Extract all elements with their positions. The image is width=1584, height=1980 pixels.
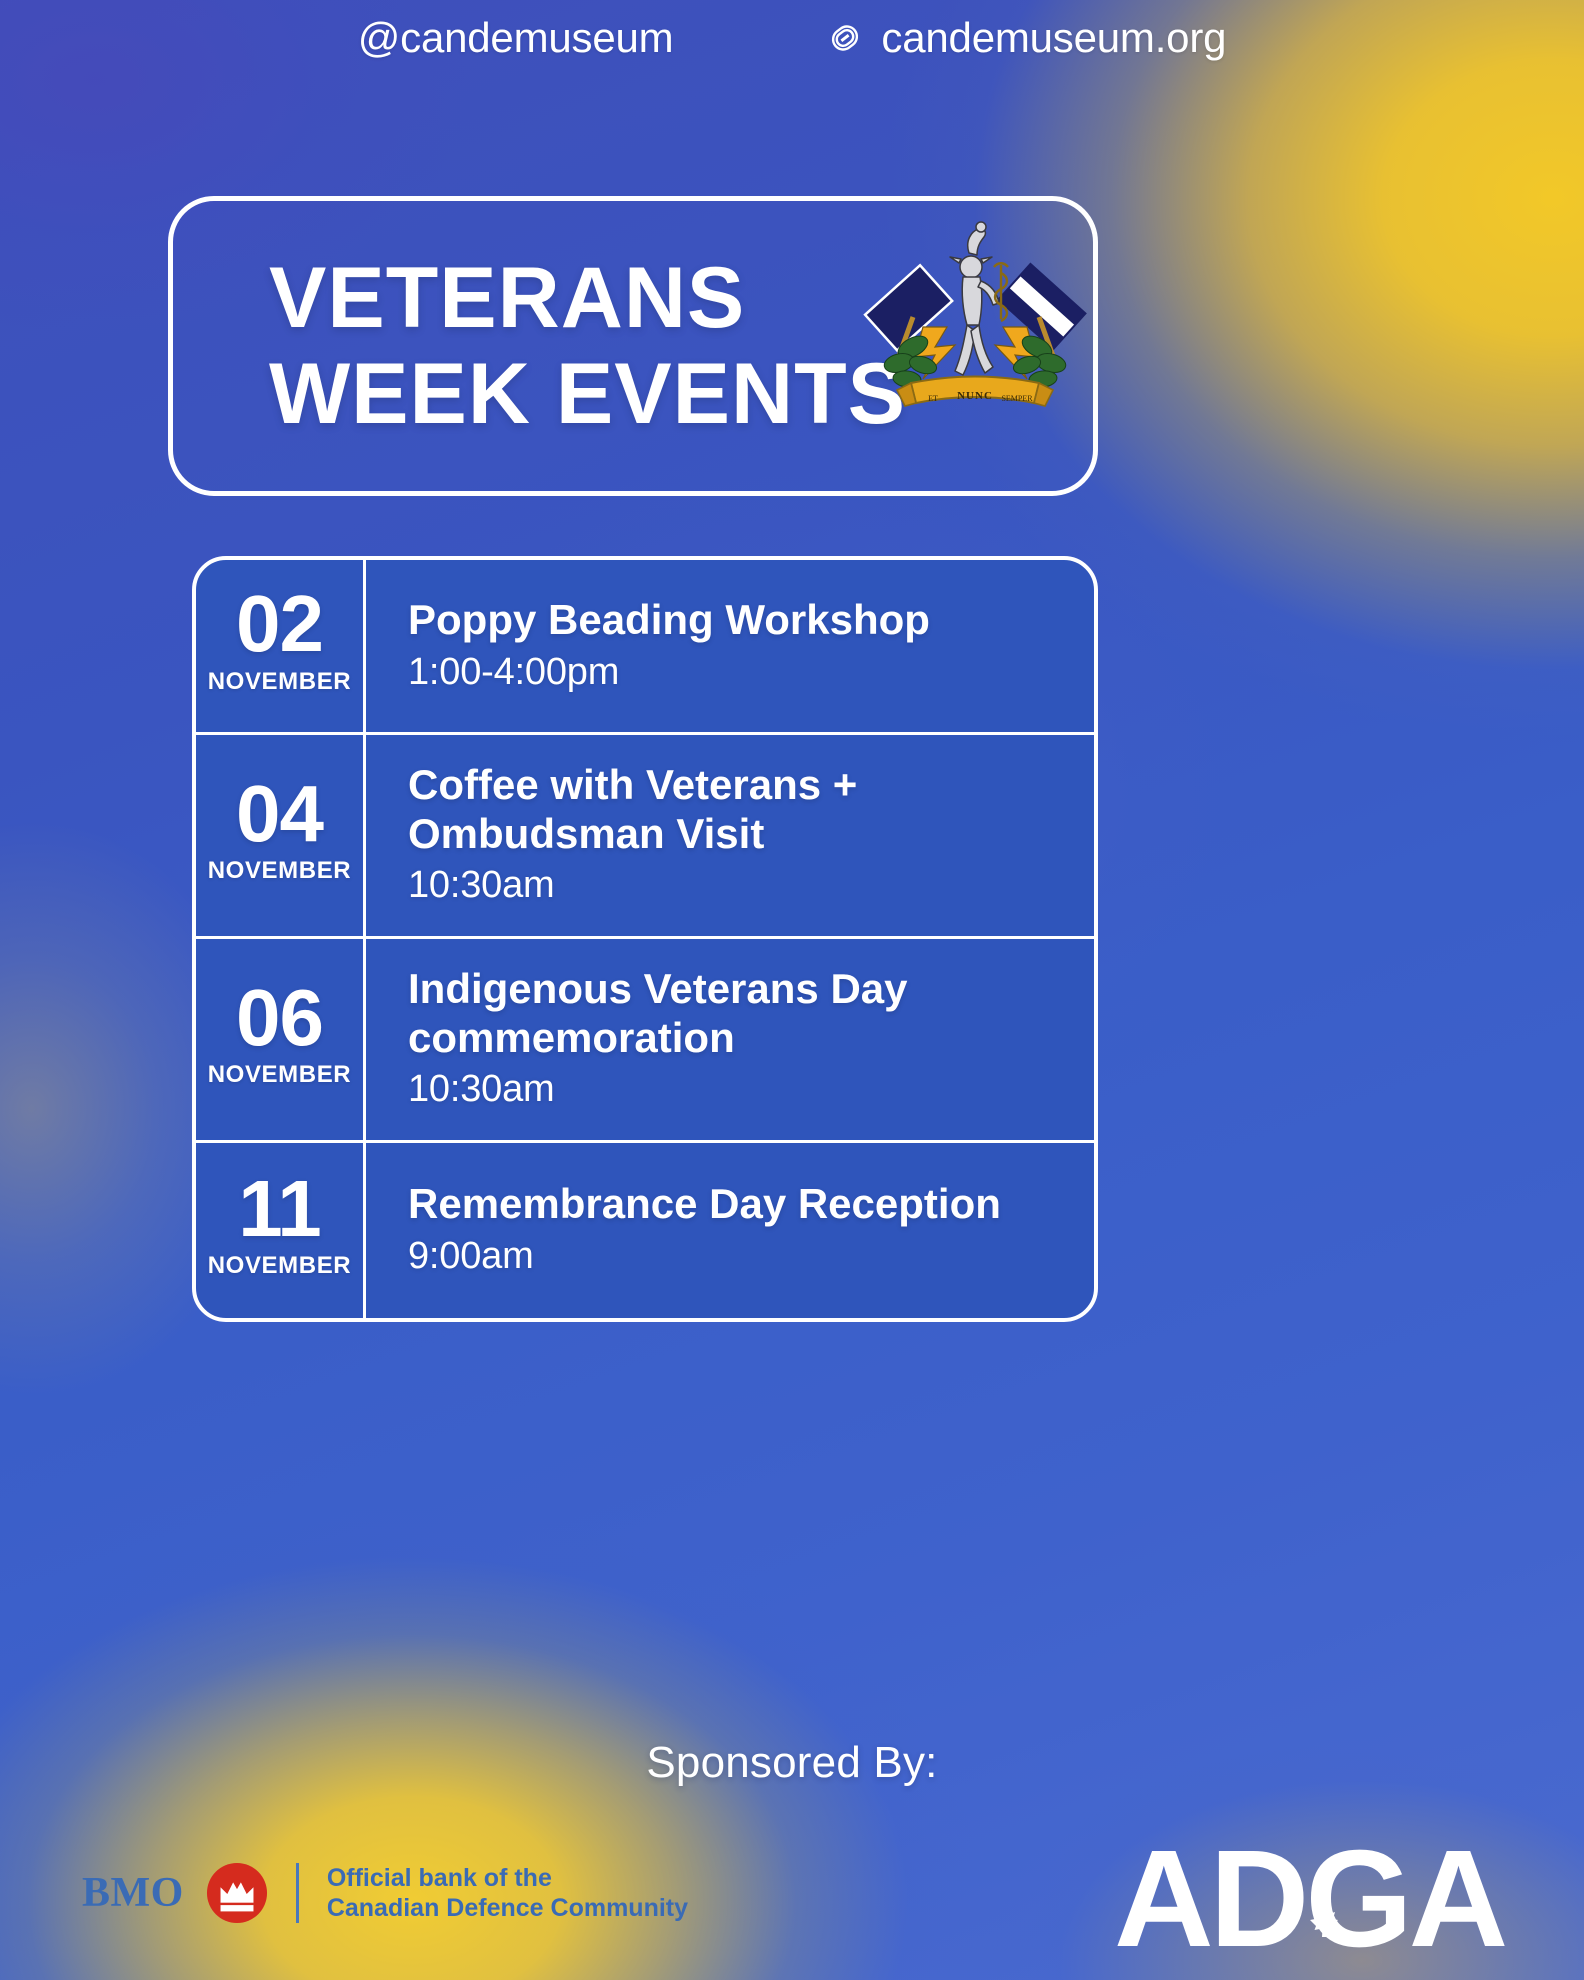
page-title: VETERANS WEEK EVENTS: [173, 250, 906, 443]
link-icon: [823, 16, 867, 60]
event-info-cell: Remembrance Day Reception 9:00am: [366, 1143, 1094, 1318]
event-time: 10:30am: [408, 862, 1064, 910]
event-time: 9:00am: [408, 1233, 1064, 1281]
title-card: VETERANS WEEK EVENTS: [168, 196, 1098, 496]
event-date-cell: 04 NOVEMBER: [196, 735, 366, 936]
event-month: NOVEMBER: [208, 1252, 351, 1280]
sponsored-by-heading: Sponsored By:: [0, 1738, 1584, 1788]
page-title-line-1: VETERANS: [269, 250, 906, 346]
bmo-roundel-icon: [206, 1862, 268, 1924]
event-day: 11: [238, 1171, 321, 1246]
instagram-handle-text: @candemuseum: [358, 14, 674, 62]
event-day: 02: [236, 586, 323, 661]
table-row: 06 NOVEMBER Indigenous Veterans Day comm…: [196, 939, 1094, 1143]
event-time: 1:00-4:00pm: [408, 649, 1064, 697]
event-title: Remembrance Day Reception: [408, 1180, 1064, 1229]
bmo-divider: [296, 1863, 299, 1923]
museum-crest-icon: NUNC ET SEMPER: [851, 207, 1099, 417]
table-row: 11 NOVEMBER Remembrance Day Reception 9:…: [196, 1143, 1094, 1318]
event-day: 06: [236, 980, 323, 1055]
event-title: Indigenous Veterans Day commemoration: [408, 965, 1064, 1062]
event-month: NOVEMBER: [208, 857, 351, 885]
bmo-tagline: Official bank of the Canadian Defence Co…: [327, 1863, 688, 1924]
event-month: NOVEMBER: [208, 1061, 351, 1089]
website-text: candemuseum.org: [881, 14, 1226, 62]
event-date-cell: 11 NOVEMBER: [196, 1143, 366, 1318]
page-title-line-2: WEEK EVENTS: [269, 346, 906, 442]
event-title: Coffee with Veterans + Ombudsman Visit: [408, 761, 1064, 858]
svg-text:ET: ET: [928, 394, 938, 403]
events-table: 02 NOVEMBER Poppy Beading Workshop 1:00-…: [192, 556, 1098, 1322]
svg-text:NUNC: NUNC: [957, 390, 993, 402]
social-header: @candemuseum candemuseum.org: [0, 14, 1584, 62]
table-row: 02 NOVEMBER Poppy Beading Workshop 1:00-…: [196, 560, 1094, 735]
event-info-cell: Poppy Beading Workshop 1:00-4:00pm: [366, 560, 1094, 732]
bmo-sponsor-logo: BMO Official bank of the Canadian Defenc…: [82, 1862, 688, 1924]
bmo-tagline-line-2: Canadian Defence Community: [327, 1893, 688, 1924]
adga-sponsor-logo: ADGA: [1114, 1834, 1544, 1972]
event-month: NOVEMBER: [208, 668, 351, 696]
bmo-tagline-line-1: Official bank of the: [327, 1863, 688, 1894]
event-day: 04: [236, 776, 323, 851]
event-time: 10:30am: [408, 1066, 1064, 1114]
bmo-wordmark: BMO: [82, 1869, 184, 1917]
website-link[interactable]: candemuseum.org: [823, 14, 1226, 62]
event-info-cell: Coffee with Veterans + Ombudsman Visit 1…: [366, 735, 1094, 936]
instagram-handle: @candemuseum: [358, 14, 674, 62]
adga-wordmark: ADGA: [1114, 1834, 1506, 1972]
event-date-cell: 06 NOVEMBER: [196, 939, 366, 1140]
svg-text:SEMPER: SEMPER: [1001, 394, 1033, 403]
event-title: Poppy Beading Workshop: [408, 596, 1064, 645]
event-date-cell: 02 NOVEMBER: [196, 560, 366, 732]
table-row: 04 NOVEMBER Coffee with Veterans + Ombud…: [196, 735, 1094, 939]
event-info-cell: Indigenous Veterans Day commemoration 10…: [366, 939, 1094, 1140]
